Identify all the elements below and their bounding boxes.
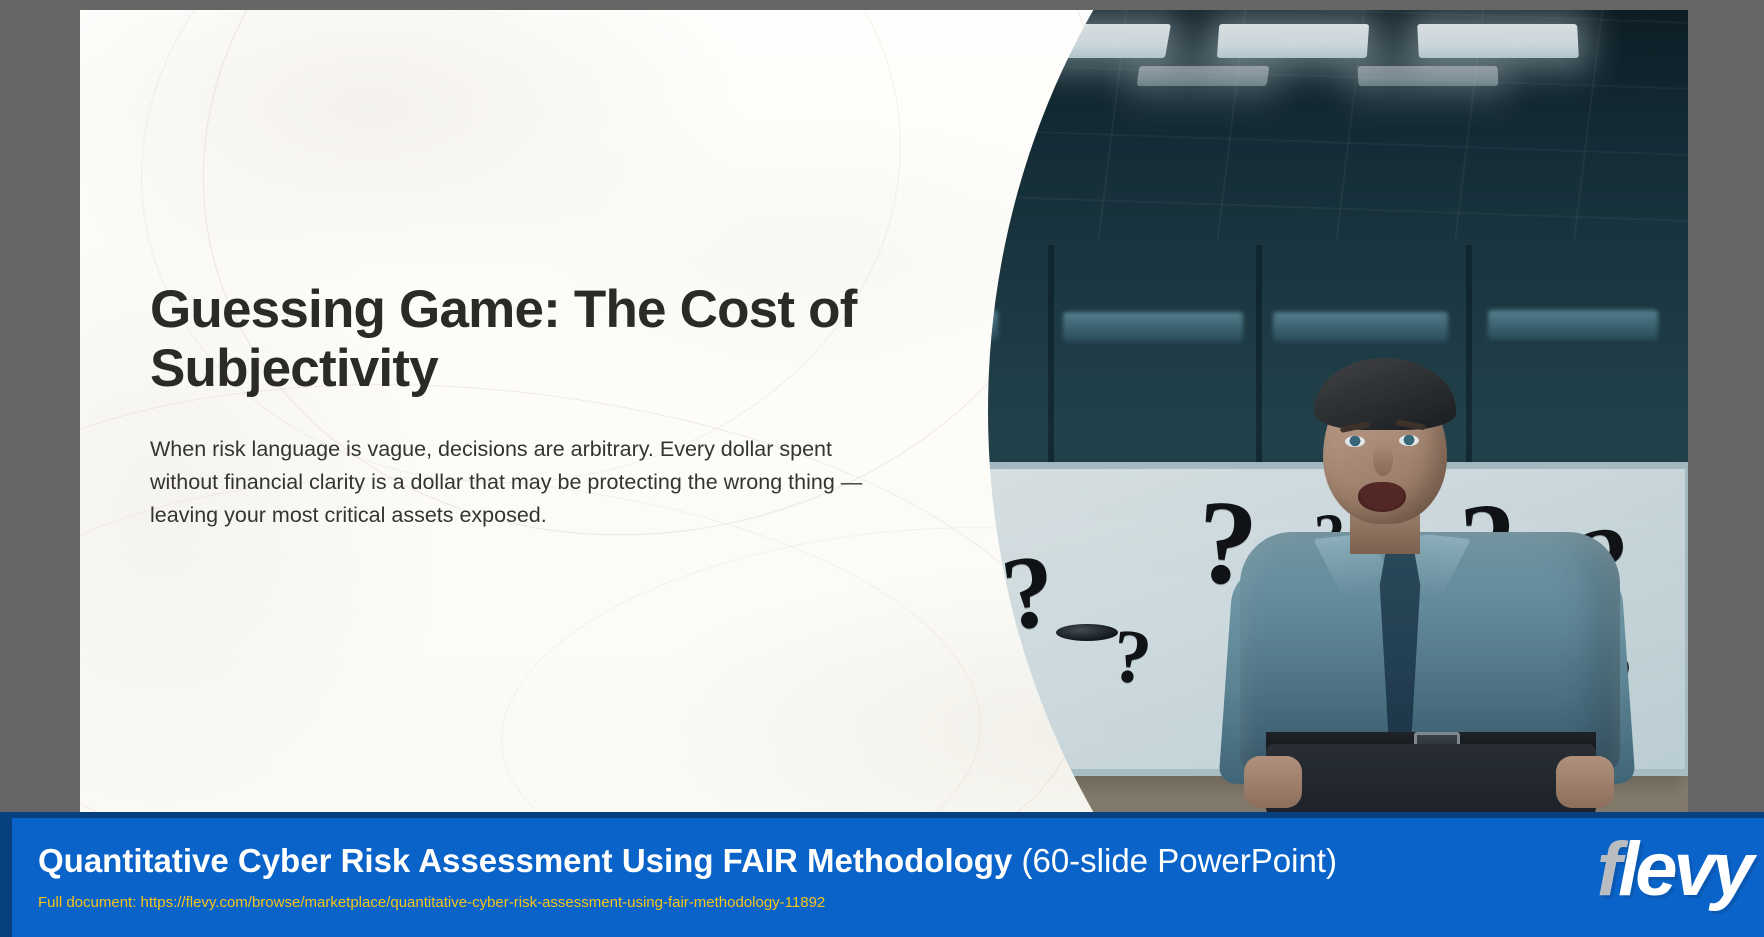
ceiling-light	[1015, 24, 1171, 58]
document-meta: (60-slide PowerPoint)	[1021, 842, 1336, 879]
open-mouth	[1358, 482, 1406, 512]
slide-title: Guessing Game: The Cost of Subjectivity	[150, 280, 910, 399]
trousers	[1266, 744, 1596, 812]
slide-photo-panel: ? ? ? ? ? ? ? ? ?	[888, 10, 1688, 812]
left-fist	[1244, 756, 1302, 808]
conference-speaker-puck	[1056, 624, 1118, 641]
office-photo: ? ? ? ? ? ? ? ? ?	[888, 10, 1688, 812]
right-fist	[1556, 756, 1614, 808]
screenshot-root: ? ? ? ? ? ? ? ? ?	[0, 0, 1764, 937]
glass-reflection	[908, 310, 998, 340]
slide-text-column: Guessing Game: The Cost of Subjectivity …	[150, 280, 910, 531]
flevy-logo[interactable]: flevy	[1597, 832, 1750, 908]
presentation-slide: ? ? ? ? ? ? ? ? ?	[80, 10, 1688, 812]
document-name: Quantitative Cyber Risk Assessment Using…	[38, 842, 1012, 879]
slide-body-text: When risk language is vague, decisions a…	[150, 433, 890, 532]
glass-reflection	[1273, 312, 1448, 342]
flevy-logo-levy: levy	[1618, 827, 1750, 912]
ceiling-light	[1217, 24, 1369, 58]
question-mark-icon: ?	[996, 538, 1062, 648]
ceiling-light	[1137, 66, 1270, 86]
full-document-url[interactable]: Full document: https://flevy.com/browse/…	[38, 894, 825, 911]
glass-reflection	[1488, 310, 1658, 340]
banner-left-accent	[0, 818, 12, 937]
businessman-figure	[1218, 340, 1638, 812]
ceiling-light	[1358, 66, 1499, 86]
banner-document-title: Quantitative Cyber Risk Assessment Using…	[38, 842, 1337, 880]
eye	[1399, 435, 1419, 446]
ceiling-light	[1417, 24, 1579, 58]
flevy-promo-banner: Quantitative Cyber Risk Assessment Using…	[0, 812, 1764, 937]
nose	[1373, 444, 1393, 476]
glass-reflection	[1063, 312, 1243, 342]
flevy-logo-f: f	[1597, 827, 1618, 912]
hair	[1314, 358, 1456, 430]
eye	[1345, 436, 1365, 447]
